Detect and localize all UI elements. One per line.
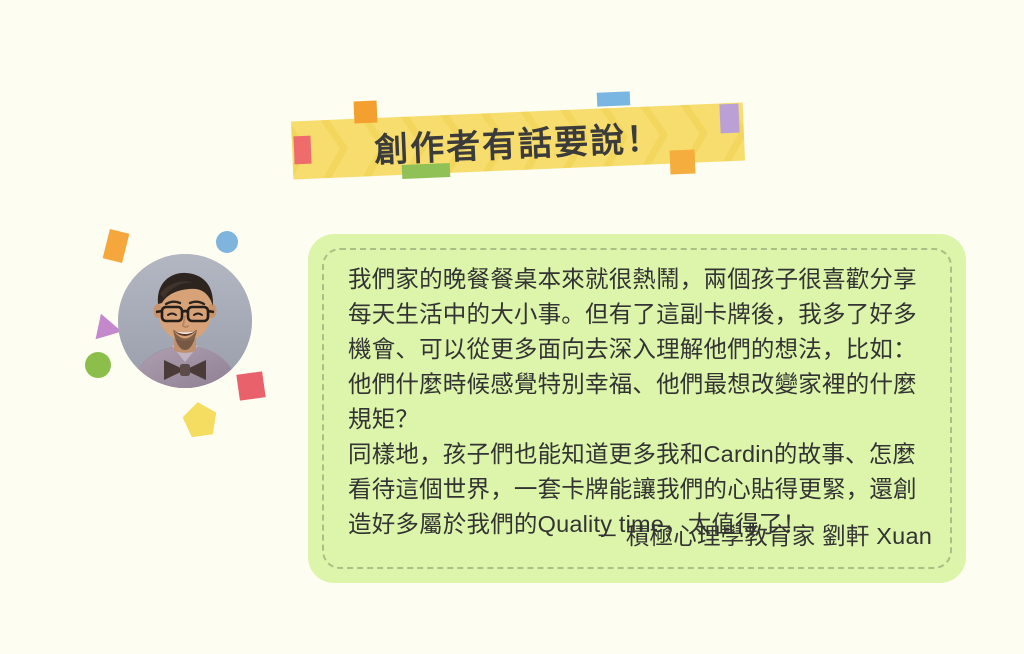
banner: 創作者有話要說！ (292, 100, 744, 178)
avatar-confetti-green-circle (85, 352, 111, 378)
quote-card: 我們家的晚餐餐桌本來就很熱鬧，兩個孩子很喜歡分享每天生活中的大小事。但有了這副卡… (308, 234, 966, 583)
avatar-cluster (80, 222, 290, 437)
avatar-confetti-red-square (236, 371, 265, 400)
avatar-confetti-yellow-pentagon (181, 400, 219, 438)
quote-attribution: － 積極心理學教育家 劉軒 Xuan (595, 517, 932, 551)
banner-confetti-blue-rect-top (597, 91, 631, 106)
avatar (118, 254, 252, 388)
avatar-confetti-orange-rect (103, 229, 130, 263)
avatar-confetti-blue-circle (216, 231, 238, 253)
quote-paragraph-1: 我們家的晚餐餐桌本來就很熱鬧，兩個孩子很喜歡分享每天生活中的大小事。但有了這副卡… (348, 262, 934, 437)
avatar-portrait-illustration (118, 254, 252, 388)
testimonial-section: 創作者有話要說！ (0, 0, 1024, 654)
quote-text: 我們家的晚餐餐桌本來就很熱鬧，兩個孩子很喜歡分享每天生活中的大小事。但有了這副卡… (348, 262, 934, 542)
